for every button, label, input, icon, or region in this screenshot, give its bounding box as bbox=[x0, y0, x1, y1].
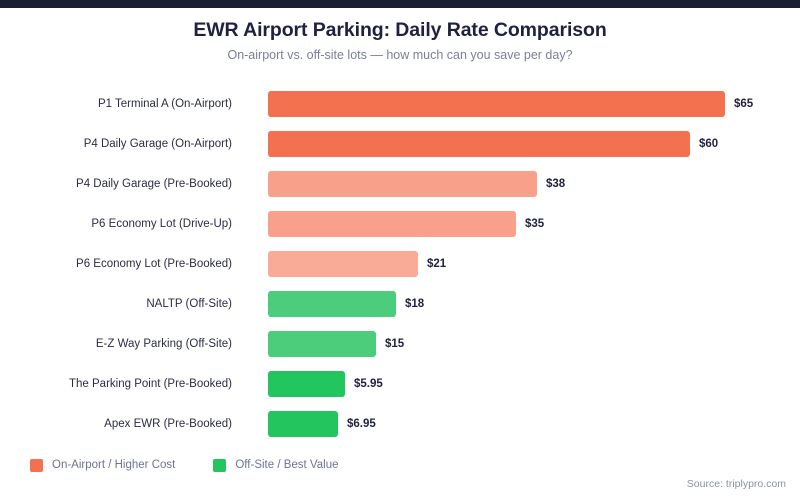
bar bbox=[268, 291, 396, 317]
bar-value-label: $21 bbox=[427, 251, 446, 277]
bar-category-label: P6 Economy Lot (Pre-Booked) bbox=[0, 251, 232, 277]
bar-value-label: $65 bbox=[734, 91, 753, 117]
bar bbox=[268, 331, 376, 357]
bar bbox=[268, 131, 690, 157]
bar bbox=[268, 91, 725, 117]
legend-label: On-Airport / Higher Cost bbox=[52, 459, 175, 471]
bar-row: NALTP (Off-Site)$18 bbox=[0, 291, 800, 317]
legend-swatch-icon bbox=[30, 459, 43, 472]
bar-row: P4 Daily Garage (Pre-Booked)$38 bbox=[0, 171, 800, 197]
legend-label: Off-Site / Best Value bbox=[235, 459, 338, 471]
bar-row: P1 Terminal A (On-Airport)$65 bbox=[0, 91, 800, 117]
bar-row: E-Z Way Parking (Off-Site)$15 bbox=[0, 331, 800, 357]
source-note: Source: triplypro.com bbox=[687, 478, 786, 490]
bar-value-label: $5.95 bbox=[354, 371, 383, 397]
legend-item[interactable]: Off-Site / Best Value bbox=[213, 459, 338, 472]
bar-value-label: $60 bbox=[699, 131, 718, 157]
bar-category-label: P1 Terminal A (On-Airport) bbox=[0, 91, 232, 117]
bar-row: The Parking Point (Pre-Booked)$5.95 bbox=[0, 371, 800, 397]
top-accent-bar bbox=[0, 0, 800, 8]
bar bbox=[268, 251, 418, 277]
page-subtitle: On-airport vs. off-site lots — how much … bbox=[0, 48, 800, 62]
bar-row: Apex EWR (Pre-Booked)$6.95 bbox=[0, 411, 800, 437]
bar-category-label: P4 Daily Garage (Pre-Booked) bbox=[0, 171, 232, 197]
chart-legend: On-Airport / Higher CostOff-Site / Best … bbox=[30, 455, 376, 475]
bar bbox=[268, 371, 345, 397]
bar-category-label: Apex EWR (Pre-Booked) bbox=[0, 411, 232, 437]
bar bbox=[268, 211, 516, 237]
bar bbox=[268, 411, 338, 437]
bar-row: P6 Economy Lot (Pre-Booked)$21 bbox=[0, 251, 800, 277]
page-title: EWR Airport Parking: Daily Rate Comparis… bbox=[0, 19, 800, 42]
bar-category-label: P6 Economy Lot (Drive-Up) bbox=[0, 211, 232, 237]
bar-category-label: P4 Daily Garage (On-Airport) bbox=[0, 131, 232, 157]
bar-value-label: $15 bbox=[385, 331, 404, 357]
bar-category-label: The Parking Point (Pre-Booked) bbox=[0, 371, 232, 397]
bar-value-label: $6.95 bbox=[347, 411, 376, 437]
bar-chart-plot-area: P1 Terminal A (On-Airport)$65P4 Daily Ga… bbox=[0, 78, 800, 448]
bar-row: P6 Economy Lot (Drive-Up)$35 bbox=[0, 211, 800, 237]
legend-swatch-icon bbox=[213, 459, 226, 472]
legend-item[interactable]: On-Airport / Higher Cost bbox=[30, 459, 175, 472]
bar-value-label: $38 bbox=[546, 171, 565, 197]
bar-category-label: E-Z Way Parking (Off-Site) bbox=[0, 331, 232, 357]
bar-value-label: $18 bbox=[405, 291, 424, 317]
bar bbox=[268, 171, 537, 197]
bar-category-label: NALTP (Off-Site) bbox=[0, 291, 232, 317]
bar-row: P4 Daily Garage (On-Airport)$60 bbox=[0, 131, 800, 157]
bar-value-label: $35 bbox=[525, 211, 544, 237]
